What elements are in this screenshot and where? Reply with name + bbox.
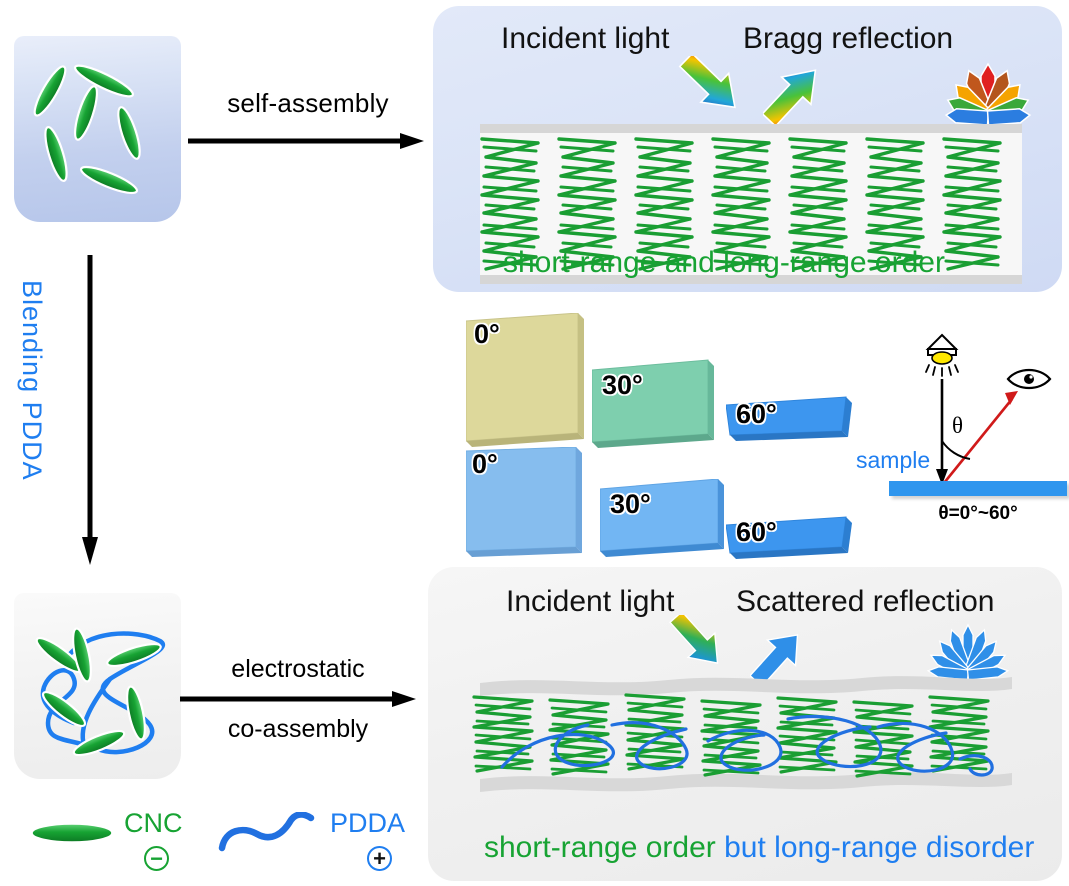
lamp-icon xyxy=(926,335,958,376)
bragg-reflection-arrow-rainbow xyxy=(763,56,923,124)
theta-symbol: θ xyxy=(952,413,963,438)
sample-tile-top-1: 30° xyxy=(592,358,717,455)
pdda-positive-charge-icon: + xyxy=(367,846,392,871)
pdda-legend-label: PDDA xyxy=(330,808,405,839)
incident-beam-arrow xyxy=(936,379,948,485)
self-assembly-label: self-assembly xyxy=(196,88,420,119)
electrostatic-coassembly-arrow xyxy=(180,690,416,708)
sample-tile-top-2: 60° xyxy=(726,395,854,450)
top-incident-light-label: Incident light xyxy=(501,22,669,56)
top-panel-caption: short-range and long-range order xyxy=(503,246,945,280)
bottom-incident-light-label: Incident light xyxy=(506,585,674,619)
top-bragg-reflection-label: Bragg reflection xyxy=(743,22,953,56)
disordered-film-panel: Incident light Scattered reflection xyxy=(428,567,1062,881)
cnc-pdda-mixture-box xyxy=(14,593,181,779)
pdda-chain-legend-icon xyxy=(217,812,317,854)
electrostatic-label: electrostatic xyxy=(180,655,416,684)
sample-tile-bottom-0: 0° xyxy=(466,447,586,564)
cnc-rods-random-svg xyxy=(14,36,181,222)
cnc-negative-charge-icon: − xyxy=(144,846,169,871)
bragg-reflection-burst-icon xyxy=(928,50,1048,126)
cnc-pdda-entangled-svg xyxy=(14,593,181,779)
theta-range-label: θ=0°~60° xyxy=(889,503,1067,525)
self-assembly-arrow xyxy=(188,132,424,150)
sample-bar xyxy=(889,481,1067,496)
cnc-legend-label: CNC xyxy=(124,808,183,839)
sample-label: sample xyxy=(856,447,930,474)
coassembly-label: co-assembly xyxy=(180,715,416,744)
blending-pdda-arrow xyxy=(80,255,100,565)
sample-tile-top-0: 0° xyxy=(466,313,586,453)
eye-icon xyxy=(1008,370,1050,388)
bottom-caption-blue: but long-range disorder xyxy=(724,831,1034,864)
blending-pdda-label: Blending PDDA xyxy=(17,280,47,560)
sample-tile-bottom-1: 30° xyxy=(600,479,725,564)
ordered-film-panel: Incident light Bragg reflection xyxy=(433,6,1062,292)
legend: CNC − PDDA + xyxy=(30,806,420,882)
cnc-suspension-box xyxy=(14,36,181,222)
cnc-rod-legend-icon xyxy=(30,820,114,846)
sample-tile-bottom-2: 60° xyxy=(726,515,854,566)
bottom-panel-caption: short-range order but long-range disorde… xyxy=(484,831,1034,865)
bottom-caption-green: short-range order xyxy=(484,831,724,864)
disordered-cnc-pdda-film xyxy=(472,667,1018,807)
bottom-scattered-reflection-label: Scattered reflection xyxy=(736,585,994,619)
